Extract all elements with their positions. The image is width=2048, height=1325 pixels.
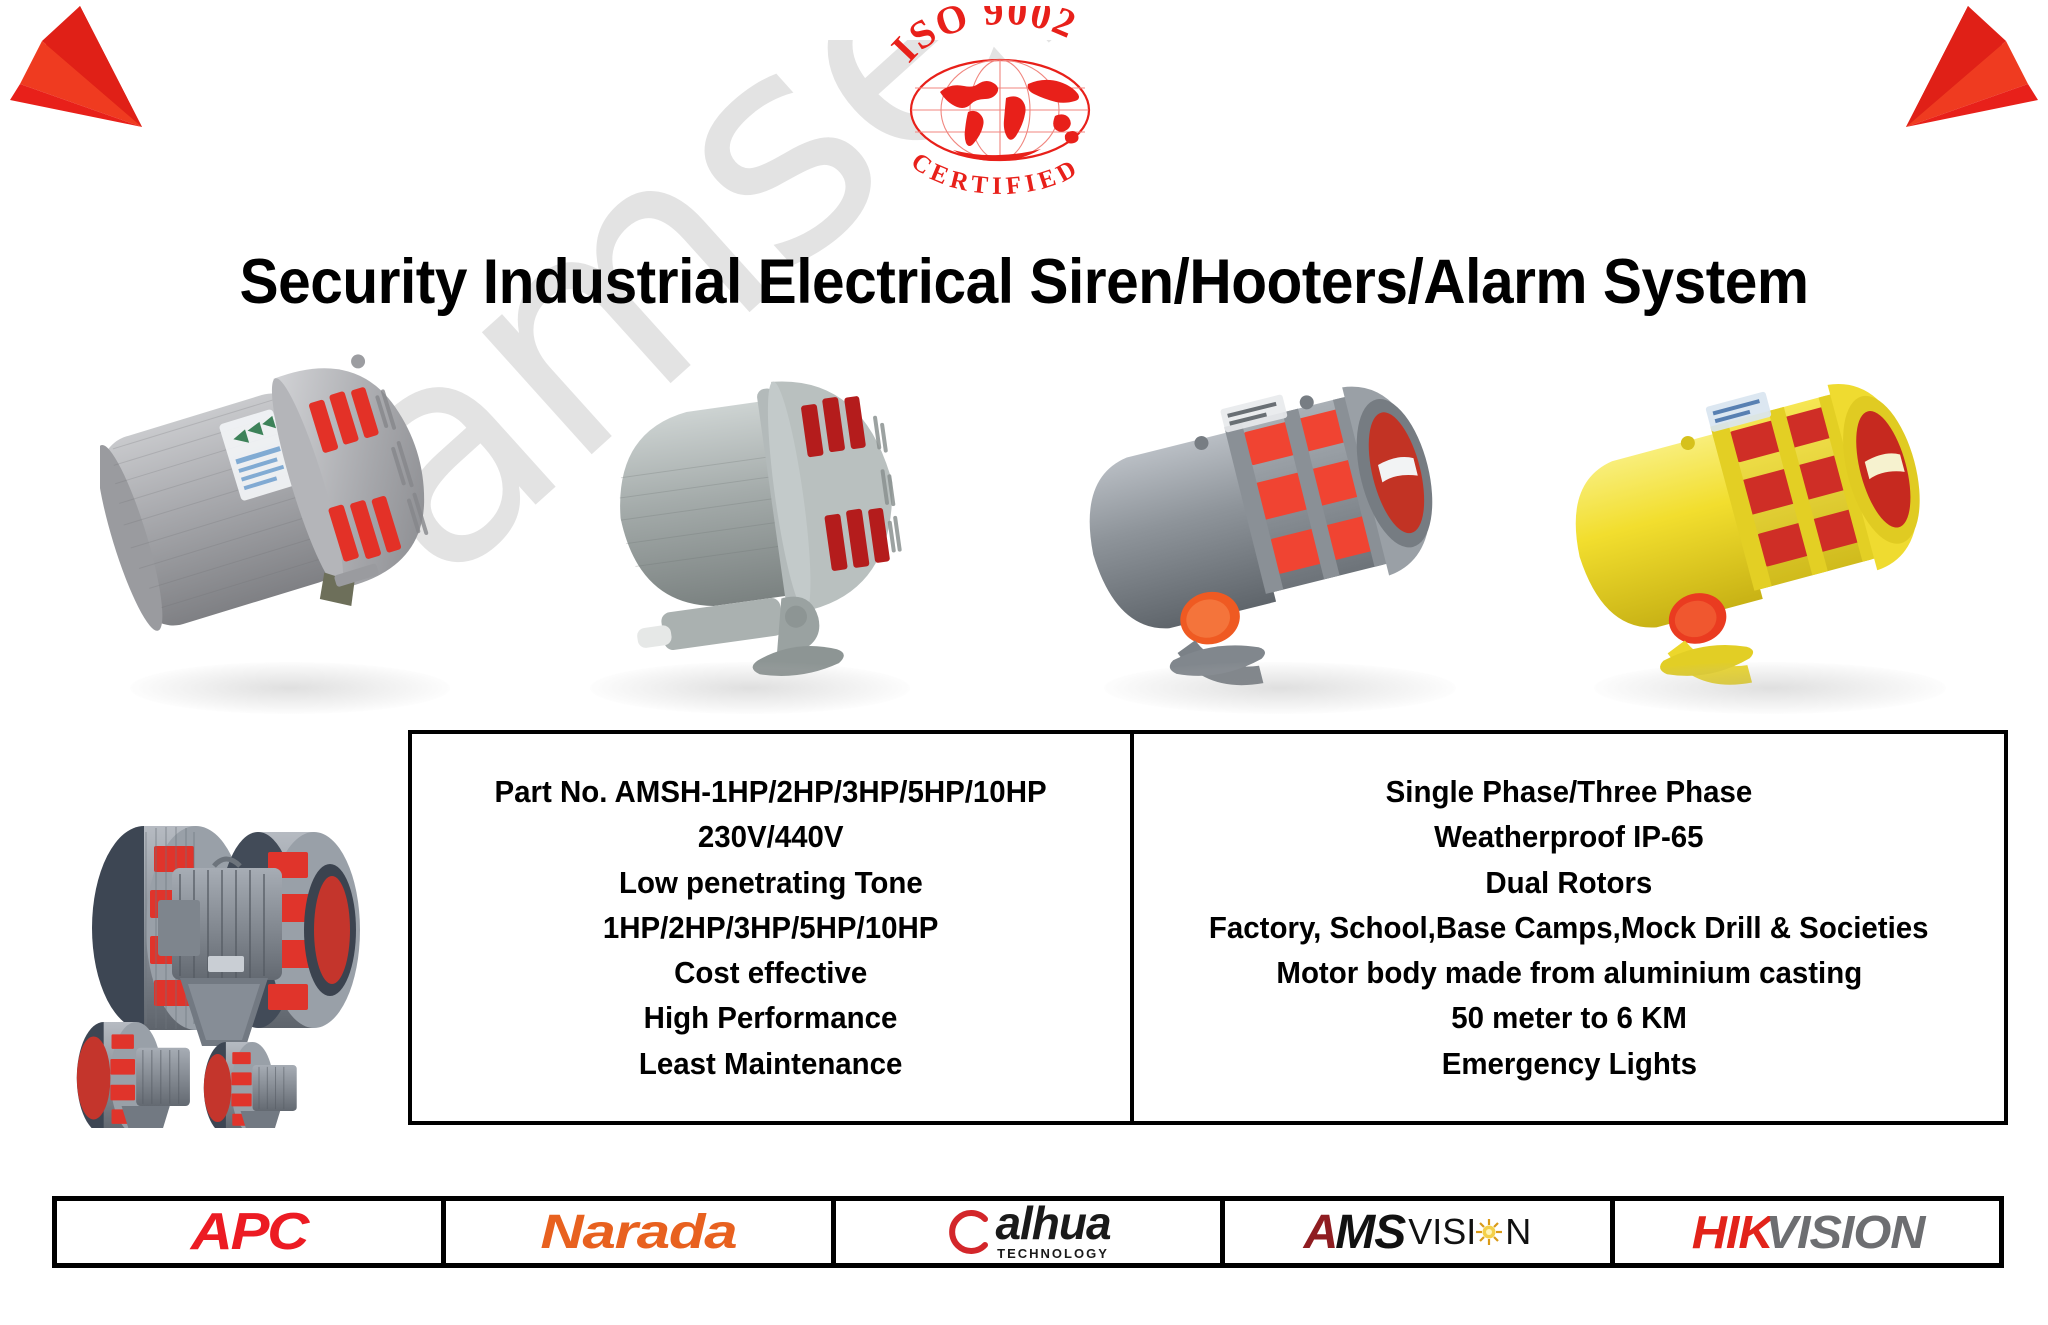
spec-column-left: Part No. AMSH-1HP/2HP/3HP/5HP/10HP 230V/… bbox=[412, 734, 1134, 1121]
dahua-logo-text: alhua bbox=[995, 1203, 1110, 1244]
spec-line: Part No. AMSH-1HP/2HP/3HP/5HP/10HP bbox=[495, 769, 1047, 814]
brand-logo-hikvision: HIK VISION bbox=[1615, 1201, 1999, 1263]
dahua-swoosh-icon bbox=[945, 1209, 991, 1255]
page-title: Security Industrial Electrical Siren/Hoo… bbox=[72, 246, 1977, 318]
ams-letter-a: A bbox=[1304, 1205, 1336, 1260]
product-image-dual-rotor-assembly-group bbox=[62, 728, 402, 1128]
ams-letters-ms: MS bbox=[1335, 1205, 1405, 1260]
brand-logo-amsvision: A MS VISI N bbox=[1225, 1201, 1614, 1263]
brand-partner-bar: APC Narada alhua TECHNOLOGY A MS VISI bbox=[52, 1196, 2004, 1268]
spec-line: 50 meter to 6 KM bbox=[1451, 995, 1687, 1040]
spec-line: Dual Rotors bbox=[1486, 860, 1653, 905]
product-reflection bbox=[1594, 662, 1947, 714]
svg-text:CERTIFIED: CERTIFIED bbox=[906, 148, 1085, 200]
narada-logo-text: Narada bbox=[541, 1205, 737, 1260]
ams-vision-text-end: N bbox=[1505, 1211, 1531, 1253]
spec-line: Cost effective bbox=[674, 950, 867, 995]
spec-line: Low penetrating Tone bbox=[619, 860, 923, 905]
spec-line: Emergency Lights bbox=[1441, 1041, 1696, 1086]
brand-logo-dahua: alhua TECHNOLOGY bbox=[836, 1201, 1225, 1263]
product-image-yellow-siren bbox=[1560, 330, 1980, 710]
product-image-grey-dual-rotor-siren bbox=[1070, 330, 1490, 710]
spec-line: High Performance bbox=[644, 995, 898, 1040]
apc-logo-text: APC bbox=[191, 1202, 307, 1262]
brand-logo-narada: Narada bbox=[446, 1201, 835, 1263]
product-reflection bbox=[590, 662, 909, 714]
product-image-grey-bullet-siren bbox=[560, 330, 940, 710]
brand-logo-apc: APC bbox=[57, 1201, 446, 1263]
hikvision-hik-text: HIK bbox=[1691, 1205, 1772, 1259]
spec-line: 230V/440V bbox=[698, 814, 844, 859]
product-image-grey-cylindrical-motor-siren bbox=[100, 330, 480, 710]
poster-page: amsers.com ISO 9002 bbox=[0, 0, 2048, 1325]
certified-text: CERTIFIED bbox=[896, 146, 1104, 202]
spec-line: Weatherproof IP-65 bbox=[1434, 814, 1703, 859]
specification-table: Part No. AMSH-1HP/2HP/3HP/5HP/10HP 230V/… bbox=[408, 730, 2008, 1125]
product-reflection bbox=[130, 662, 449, 714]
spec-line: Factory, School,Base Camps,Mock Drill & … bbox=[1209, 905, 1929, 950]
hikvision-vision-text: VISION bbox=[1765, 1205, 1924, 1259]
red-paper-plane-arrow-left-icon bbox=[2, 2, 172, 132]
sun-burst-icon bbox=[1476, 1219, 1502, 1245]
spec-line: Motor body made from aluminium casting bbox=[1276, 950, 1862, 995]
spec-column-right: Single Phase/Three Phase Weatherproof IP… bbox=[1134, 734, 2004, 1121]
spec-line: 1HP/2HP/3HP/5HP/10HP bbox=[603, 905, 939, 950]
iso-9002-certified-logo: ISO 9002 bbox=[890, 6, 1110, 201]
spec-line: Single Phase/Three Phase bbox=[1386, 769, 1753, 814]
red-paper-plane-arrow-right-icon bbox=[1876, 2, 2046, 132]
dahua-logo-subtext: TECHNOLOGY bbox=[995, 1246, 1110, 1261]
spec-line: Least Maintenance bbox=[639, 1041, 903, 1086]
product-image-strip bbox=[60, 330, 2000, 710]
ams-vision-text: VISI bbox=[1408, 1211, 1476, 1253]
product-reflection bbox=[1104, 662, 1457, 714]
